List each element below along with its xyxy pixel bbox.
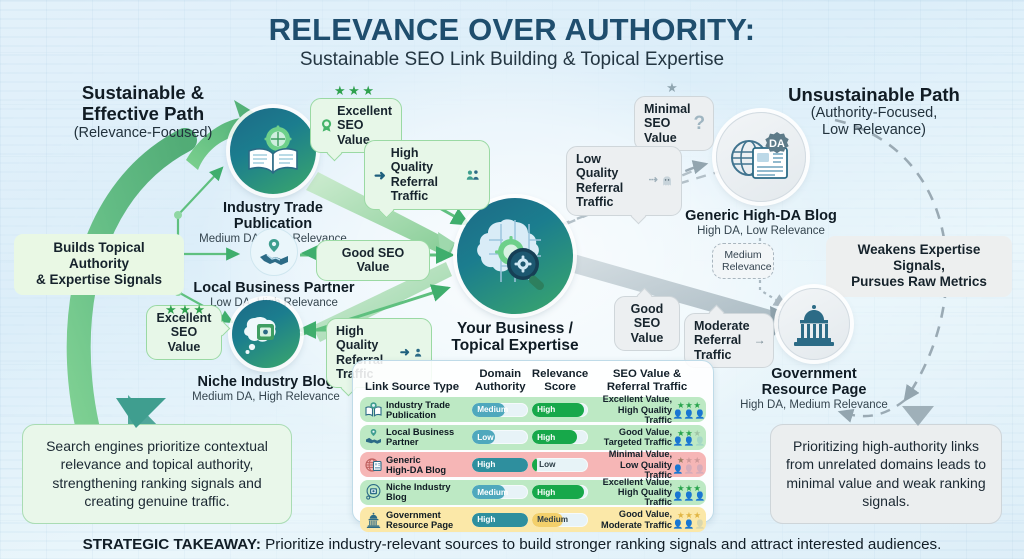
relevance-score-value: High [532, 405, 555, 414]
cell-relevance-score: High [530, 430, 590, 444]
bubble-line2: Relevance [722, 261, 764, 273]
rating-group: ★★★👤👤👤 [676, 484, 702, 501]
bubble-line2: Referral Traffic [391, 175, 461, 204]
cell-seo-value: Good Value,Targeted Traffic★★★👤👤👤 [590, 427, 704, 447]
cell-relevance-score: Low [530, 458, 590, 472]
cell-seo-value: Excellent Value,High Quality Traffic★★★👤… [590, 477, 704, 507]
domain-authority-value: High [472, 515, 495, 524]
globe-newspaper-da-icon: DA [716, 112, 806, 202]
bubble-medium-relevance: Medium Relevance [712, 243, 774, 279]
table-body: Industry TradePublicationMediumHighExcel… [360, 397, 706, 532]
source-name: GenericHigh-DA Blog [386, 455, 446, 475]
node-your-business[interactable]: Your Business / Topical Expertise [457, 198, 573, 314]
bubble-line1: High Quality [391, 146, 461, 175]
node-name-line2: Resource Page [694, 382, 934, 398]
brain-gear-magnifier-icon [457, 198, 573, 314]
node-local-business-partner[interactable]: Local Business Partner Low DA, High Rele… [250, 228, 298, 276]
capitol-building-icon [778, 288, 850, 360]
bubble-line2: Value [624, 331, 670, 345]
left-summary-text: Search engines prioritize contextual rel… [46, 438, 268, 509]
takeaway-label: STRATEGIC TAKEAWAY: [83, 536, 261, 553]
handshake-icon [365, 429, 382, 446]
takeaway-text: Prioritize industry-relevant sources to … [261, 536, 941, 553]
source-name: Industry TradePublication [386, 400, 450, 420]
cell-domain-authority: Medium [470, 485, 530, 499]
bubble-line2: Referral Traffic [576, 181, 645, 210]
traffic-people-icon: 👤👤👤 [672, 492, 705, 501]
arrow-right-icon: ⇢ [649, 174, 658, 187]
domain-authority-value: Low [472, 433, 493, 442]
right-panel-pointer [900, 406, 940, 430]
domain-authority-value: High [472, 460, 495, 469]
thought-bubble-blog-glyph [242, 312, 290, 356]
left-path-heading: Sustainable & Effective Path (Relevance-… [28, 82, 258, 141]
bubble-good-seo-value-mid: Good SEO Value [316, 240, 430, 281]
table-row[interactable]: Local BusinessPartnerLowHighGood Value,T… [360, 425, 706, 450]
cell-link-source: Local BusinessPartner [362, 427, 470, 447]
right-summary-panel: Prioritizing high-authority links from u… [770, 424, 1002, 524]
ghost-icon [662, 174, 672, 188]
svg-text:DA: DA [769, 138, 785, 150]
handshake-pin-glyph [258, 237, 290, 267]
relevance-score-pill: Low [532, 458, 588, 472]
seo-value-text: Good Value,Moderate Traffic [601, 509, 672, 529]
bubble-line2: Referral Traffic [694, 333, 750, 362]
bubble-line2: SEO Value [156, 325, 212, 354]
thought-bubble-blog-icon [232, 300, 300, 368]
stars-excellent-left: ★★★ [148, 303, 222, 316]
book-gear-globe-glyph [245, 125, 301, 177]
relevance-score-pill: Medium [532, 513, 588, 527]
question-mark-icon: ? [694, 113, 706, 135]
bubble-line1: Low Quality [576, 152, 645, 181]
table-row[interactable]: Industry TradePublicationMediumHighExcel… [360, 397, 706, 422]
cell-seo-value: Excellent Value,High Quality Traffic★★★👤… [590, 394, 704, 424]
table-row[interactable]: GenericHigh-DA BlogHighLowMinimal Value,… [360, 452, 706, 477]
node-generic-high-da-blog[interactable]: DA Generic High-DA Blog High DA, Low Rel… [716, 112, 806, 202]
table-row[interactable]: GovernmentResource PageHighMediumGood Va… [360, 507, 706, 532]
source-name: Niche IndustryBlog [386, 482, 451, 502]
weakens-expertise-chip: Weakens Expertise Signals, Pursues Raw M… [826, 236, 1012, 297]
stars-excellent-top: ★★★ [318, 84, 390, 97]
traffic-people-icon: 👤👤👤 [672, 410, 705, 419]
right-path-heading-line1: Unsustainable Path [744, 84, 1004, 105]
bubble-line2: SEO Value [644, 116, 691, 145]
rating-group: ★★★👤👤👤 [676, 429, 702, 446]
left-path-heading-line2: Effective Path [28, 103, 258, 124]
col-header-seo-value: SEO Value & Referral Traffic [590, 368, 704, 393]
bubble-low-quality-referral: Low Quality Referral Traffic ⇢ [566, 146, 682, 216]
bubble-line1: Excellent [337, 104, 392, 118]
globe-building-icon [365, 456, 382, 473]
node-sub: High DA, Low Relevance [641, 225, 881, 237]
domain-authority-pill: High [472, 458, 528, 472]
rating-group: ★★★👤👤👤 [676, 511, 702, 528]
relevance-score-value: High [532, 488, 555, 497]
col-header-relevance-score: Relevance Score [530, 368, 590, 393]
traffic-people-icon: 👤👤👤 [672, 520, 705, 529]
bubble-high-quality-referral-top: ➜ High Quality Referral Traffic [364, 140, 490, 210]
handshake-pin-icon [250, 228, 298, 276]
domain-authority-value: Medium [472, 405, 508, 414]
cell-domain-authority: Low [470, 430, 530, 444]
bubble-line1: Good SEO Value [326, 246, 420, 275]
cell-relevance-score: Medium [530, 513, 590, 527]
cell-domain-authority: High [470, 458, 530, 472]
infographic-canvas: RELEVANCE OVER AUTHORITY: Sustainable SE… [0, 0, 1024, 559]
left-summary-panel: Search engines prioritize contextual rel… [22, 424, 292, 524]
source-name: GovernmentResource Page [386, 510, 453, 530]
node-name-line1: Local Business Partner [154, 280, 394, 296]
bubble-line1: Good SEO [624, 302, 670, 331]
chip-line2: & Expertise Signals [25, 272, 173, 288]
bubble-line1: Moderate [694, 319, 750, 333]
node-government-resource-page[interactable]: Government Resource Page High DA, Medium… [778, 288, 850, 360]
table-header-row: Link Source Type Domain Authority Releva… [360, 366, 706, 397]
stars-minimal-seo: ★ [660, 81, 684, 94]
chip-line1: Weakens Expertise Signals, [837, 242, 1001, 274]
cell-link-source: Niche IndustryBlog [362, 482, 470, 502]
chip-line2: Pursues Raw Metrics [837, 274, 1001, 290]
source-name: Local BusinessPartner [386, 427, 454, 447]
relevance-score-value: Low [532, 460, 555, 469]
cell-link-source: GenericHigh-DA Blog [362, 455, 470, 475]
cell-link-source: Industry TradePublication [362, 400, 470, 420]
book-gear-globe-icon [230, 108, 316, 194]
domain-authority-pill: Medium [472, 403, 528, 417]
cell-domain-authority: High [470, 513, 530, 527]
traffic-people-icon: 👤👤👤 [672, 465, 705, 474]
seo-value-text: Good Value,Targeted Traffic [604, 427, 672, 447]
brain-gear-magnifier-glyph [471, 214, 559, 298]
cell-link-source: GovernmentResource Page [362, 510, 470, 530]
bubble-line1: High Quality [336, 324, 396, 353]
cell-domain-authority: Medium [470, 403, 530, 417]
link-source-comparison-table: Link Source Type Domain Authority Releva… [352, 360, 714, 523]
person-icon [414, 346, 422, 359]
cell-relevance-score: High [530, 403, 590, 417]
seo-value-text: Excellent Value,High Quality Traffic [590, 394, 672, 424]
domain-authority-value: Medium [472, 488, 508, 497]
people-icon [466, 168, 480, 182]
award-ribbon-icon [320, 117, 333, 134]
book-gear-icon [365, 401, 382, 418]
blog-bubble-icon [365, 484, 382, 501]
right-summary-text: Prioritizing high-authority links from u… [786, 438, 986, 509]
capitol-icon [365, 511, 382, 528]
domain-authority-pill: Low [472, 430, 528, 444]
node-name-line1: Government [694, 366, 934, 382]
page-title: RELEVANCE OVER AUTHORITY: [0, 12, 1024, 48]
arrow-right-icon: ➜ [374, 167, 386, 183]
table-row[interactable]: Niche IndustryBlogMediumHighExcellent Va… [360, 480, 706, 505]
left-panel-pointer [110, 398, 180, 432]
capitol-glyph [789, 301, 839, 347]
cell-seo-value: Good Value,Moderate Traffic★★★👤👤👤 [590, 509, 704, 529]
col-header-link-source: Link Source Type [362, 381, 470, 394]
relevance-score-pill: High [532, 403, 588, 417]
rating-group: ★★★👤👤👤 [676, 401, 702, 418]
bubble-line1: Minimal [644, 102, 691, 116]
arrow-right-icon: → [754, 334, 766, 348]
seo-value-text: Minimal Value,Low Quality Traffic [590, 449, 672, 479]
globe-newspaper-da-glyph: DA [729, 128, 793, 186]
bubble-line1: Medium [722, 249, 764, 261]
domain-authority-pill: High [472, 513, 528, 527]
chip-line1: Builds Topical Authority [25, 240, 173, 272]
node-sub: High DA, Medium Relevance [694, 399, 934, 411]
strategic-takeaway: STRATEGIC TAKEAWAY: Prioritize industry-… [0, 536, 1024, 553]
page-subtitle: Sustainable SEO Link Building & Topical … [0, 49, 1024, 71]
node-name-line1: Industry Trade [153, 200, 393, 216]
traffic-people-icon: 👤👤👤 [672, 437, 705, 446]
left-path-heading-line1: Sustainable & [28, 82, 258, 103]
arrow-right-icon: ➜ [400, 346, 410, 360]
relevance-score-value: Medium [532, 515, 568, 524]
relevance-score-value: High [532, 433, 555, 442]
domain-authority-pill: Medium [472, 485, 528, 499]
col-header-domain-authority: Domain Authority [470, 368, 530, 393]
bubble-good-seo-value-right: Good SEO Value [614, 296, 680, 351]
bubble-minimal-seo-value: Minimal SEO Value ? [634, 96, 714, 151]
seo-value-text: Excellent Value,High Quality Traffic [590, 477, 672, 507]
relevance-score-pill: High [532, 430, 588, 444]
relevance-score-pill: High [532, 485, 588, 499]
node-niche-industry-blog[interactable]: Niche Industry Blog Medium DA, High Rele… [232, 300, 300, 368]
node-industry-trade-publication[interactable]: Industry Trade Publication Medium DA, Hi… [230, 108, 316, 194]
left-path-heading-sub: (Relevance-Focused) [28, 125, 258, 142]
rating-group: ★★★👤👤👤 [676, 456, 702, 473]
cell-seo-value: Minimal Value,Low Quality Traffic★★★👤👤👤 [590, 449, 704, 479]
cell-relevance-score: High [530, 485, 590, 499]
